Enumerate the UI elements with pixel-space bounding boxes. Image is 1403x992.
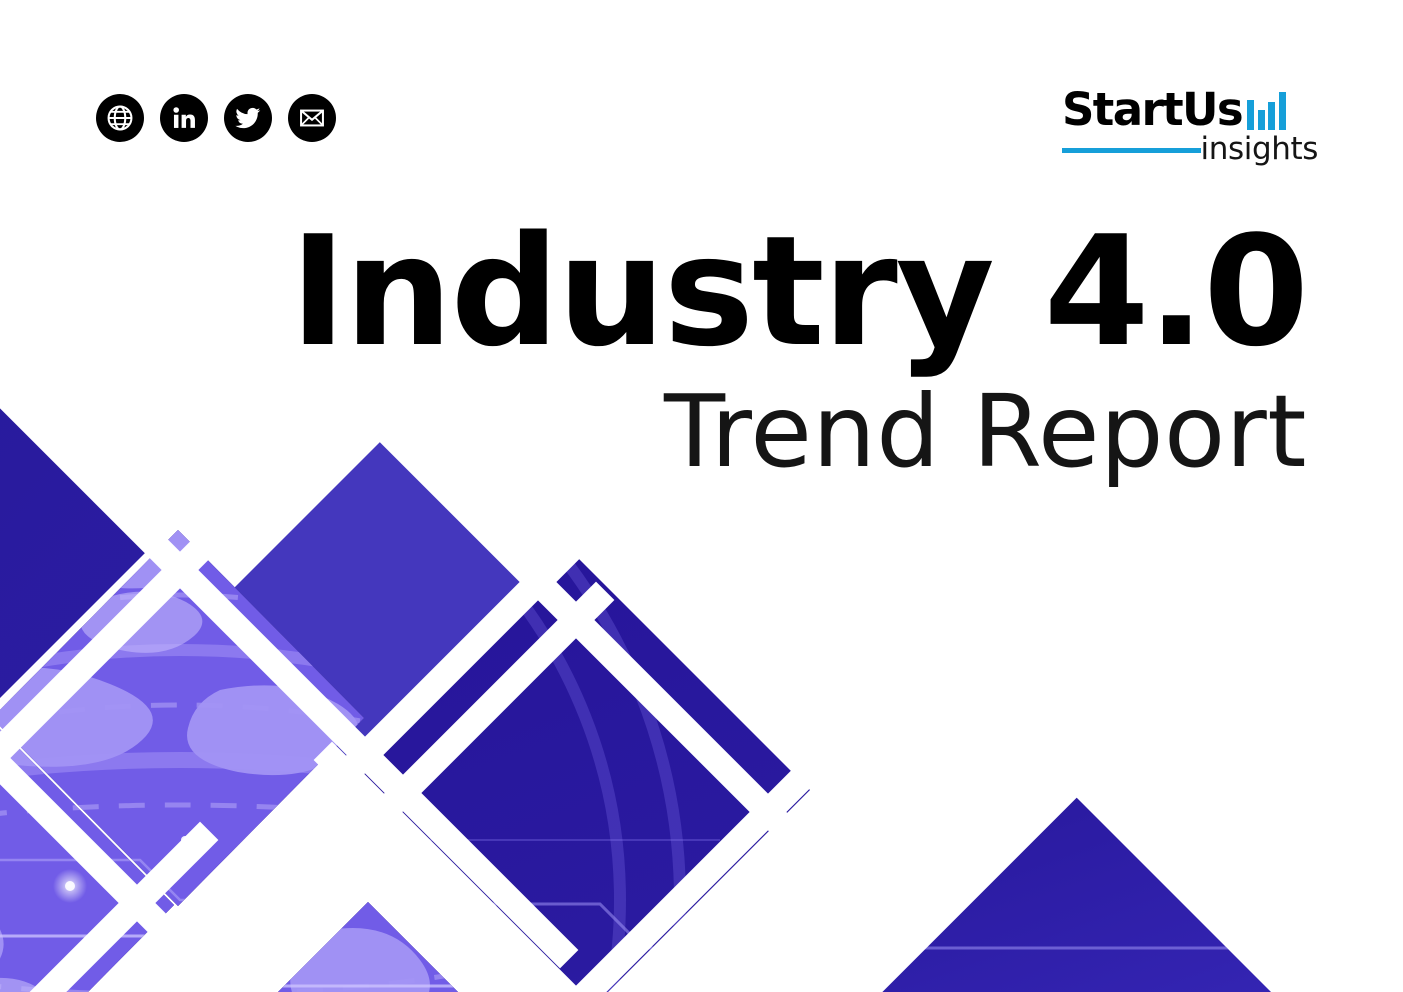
cover-page: StartUs insights Industry 4.0 Trend Repo…	[0, 0, 1403, 992]
diamond-navy-top-left	[0, 513, 148, 699]
logo-subtext: insights	[1201, 132, 1318, 166]
logo-bottom-row: insights	[1062, 132, 1318, 166]
social-links	[96, 94, 336, 142]
logo-wordmark: StartUs	[1062, 88, 1242, 132]
logo-bar-chart-icon	[1247, 92, 1286, 132]
email-icon[interactable]	[288, 94, 336, 142]
website-icon[interactable]	[96, 94, 144, 142]
diamond-purple-solid	[202, 432, 578, 808]
linkedin-icon[interactable]	[160, 94, 208, 142]
logo-top-row: StartUs	[1062, 86, 1318, 132]
logo-accent-rule	[1062, 148, 1201, 153]
title-block: Industry 4.0 Trend Report	[207, 216, 1307, 484]
twitter-icon[interactable]	[224, 94, 272, 142]
diamond-navy-top-left-shape	[0, 362, 150, 734]
page-title: Industry 4.0	[207, 216, 1307, 368]
startus-insights-logo[interactable]: StartUs insights	[1062, 86, 1318, 166]
page-subtitle: Trend Report	[207, 380, 1307, 484]
